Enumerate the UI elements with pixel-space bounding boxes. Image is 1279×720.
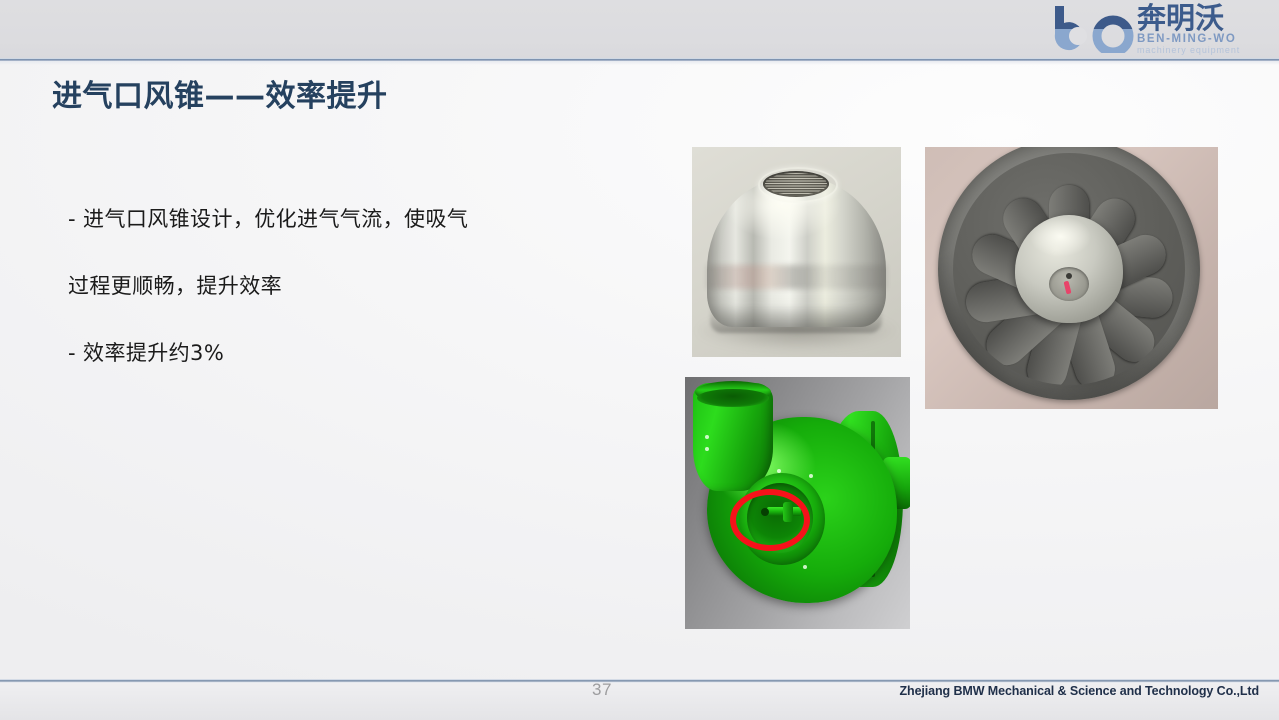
- page-number: 37: [592, 680, 612, 700]
- impeller-with-cone-photo: [925, 147, 1218, 409]
- cad-bolt-marker: [803, 565, 807, 569]
- bo-monogram-icon: [1051, 5, 1135, 53]
- company-logo: 奔明沃 BEN-MING-WO machinery equipment: [1051, 3, 1269, 57]
- presentation-slide: 奔明沃 BEN-MING-WO machinery equipment 进气口风…: [0, 0, 1279, 720]
- logo-name-cn: 奔明沃: [1137, 3, 1240, 33]
- logo-tagline: machinery equipment: [1137, 45, 1240, 56]
- cone-base-shading: [710, 305, 882, 333]
- cone-reflection-band: [707, 265, 886, 289]
- cad-outlet-opening: [697, 389, 769, 407]
- impeller-hub-bolt: [1066, 273, 1072, 279]
- impeller-backplate: [953, 153, 1185, 385]
- cad-bolt-marker: [777, 469, 781, 473]
- cad-bolt-marker: [705, 447, 709, 451]
- cad-bolt-marker: [705, 435, 709, 439]
- bullet-line-2: 过程更顺畅，提升效率: [68, 253, 628, 320]
- bullet-line-3: - 效率提升约3%: [68, 320, 628, 387]
- logo-name-en: BEN-MING-WO: [1137, 33, 1240, 45]
- cad-bolt-marker: [809, 474, 813, 478]
- inlet-air-cone-photo: [692, 147, 901, 357]
- red-highlight-circle-annotation: [730, 489, 810, 551]
- logo-wordmark: 奔明沃 BEN-MING-WO machinery equipment: [1137, 3, 1240, 56]
- page-title: 进气口风锥——效率提升: [52, 78, 388, 116]
- header-divider-glow: [0, 61, 1279, 65]
- cone-boss-rim-highlight: [758, 167, 838, 203]
- footer-company-name: Zhejiang BMW Mechanical & Science and Te…: [900, 684, 1260, 698]
- blower-cad-model-render: [685, 377, 910, 629]
- body-text-block: - 进气口风锥设计，优化进气气流，使吸气 过程更顺畅，提升效率 - 效率提升约3…: [68, 186, 628, 387]
- bullet-line-1: - 进气口风锥设计，优化进气气流，使吸气: [68, 186, 628, 253]
